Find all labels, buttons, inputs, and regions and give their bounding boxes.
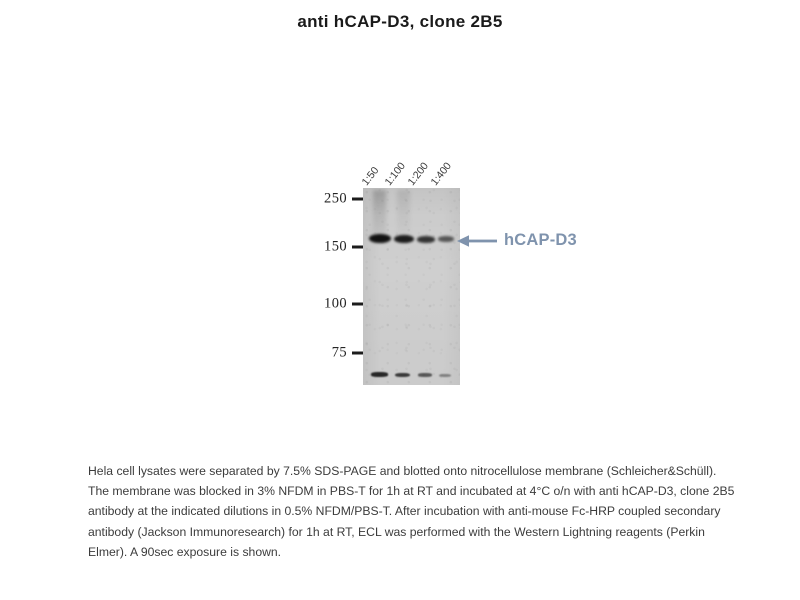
lane-label-group: 1:50 1:100 1:200 1:400 bbox=[295, 130, 495, 188]
lane-label-3: 1:200 bbox=[406, 160, 431, 188]
mw-marker-100: 100 bbox=[324, 296, 365, 313]
lane-label-1: 1:50 bbox=[360, 165, 382, 188]
lane-label-4: 1:400 bbox=[429, 160, 454, 188]
blot-membrane bbox=[363, 188, 460, 385]
left-arrow-icon bbox=[457, 234, 497, 248]
degradation-band-lane-4 bbox=[439, 374, 451, 377]
protein-band-lane-4 bbox=[438, 236, 454, 242]
mw-marker-100-value: 100 bbox=[324, 296, 347, 313]
page-title: anti hCAP-D3, clone 2B5 bbox=[0, 12, 800, 32]
figure-caption-text: Hela cell lysates were separated by 7.5%… bbox=[88, 461, 736, 562]
lane-label-2: 1:100 bbox=[383, 160, 408, 188]
degradation-band-lane-1 bbox=[371, 372, 388, 377]
protein-band-lane-1 bbox=[369, 234, 391, 243]
protein-band-lane-3 bbox=[417, 236, 435, 243]
band-annotation-label: hCAP-D3 bbox=[504, 231, 577, 250]
molecular-weight-ladder: 250 150 100 75 bbox=[295, 188, 365, 388]
mw-marker-75-value: 75 bbox=[332, 345, 347, 362]
mw-marker-150-value: 150 bbox=[324, 239, 347, 256]
mw-marker-75: 75 bbox=[332, 345, 365, 362]
figure-caption: Hela cell lysates were separated by 7.5%… bbox=[88, 461, 736, 562]
mw-marker-250: 250 bbox=[324, 191, 365, 208]
mw-marker-150: 150 bbox=[324, 239, 365, 256]
degradation-band-lane-3 bbox=[418, 373, 432, 377]
mw-marker-250-value: 250 bbox=[324, 191, 347, 208]
protein-band-lane-2 bbox=[394, 235, 414, 243]
western-blot-figure: 1:50 1:100 1:200 1:400 250 150 100 75 bbox=[295, 130, 615, 400]
degradation-band-lane-2 bbox=[395, 373, 410, 377]
band-annotation: hCAP-D3 bbox=[457, 231, 577, 250]
